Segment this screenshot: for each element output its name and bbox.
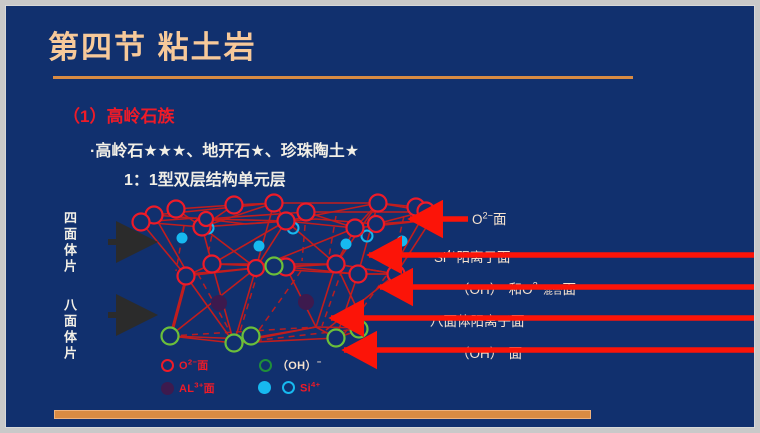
- slide-canvas: 第四节 粘土岩 （1）高岭石族 ·高岭石★★★、地开石★、珍珠陶土★ 1：1型双…: [5, 5, 755, 428]
- kaolinite-crystal-structure: [6, 6, 755, 428]
- si-cation-node: [397, 236, 408, 247]
- al-cation-node: [298, 294, 314, 310]
- si-cation-node: [341, 239, 352, 250]
- left-arrow-group: [108, 242, 152, 315]
- al-cation-node: [211, 295, 227, 311]
- si-cation-node: [177, 233, 188, 244]
- si-cation-node: [254, 241, 265, 252]
- right-arrow-group: [331, 219, 755, 350]
